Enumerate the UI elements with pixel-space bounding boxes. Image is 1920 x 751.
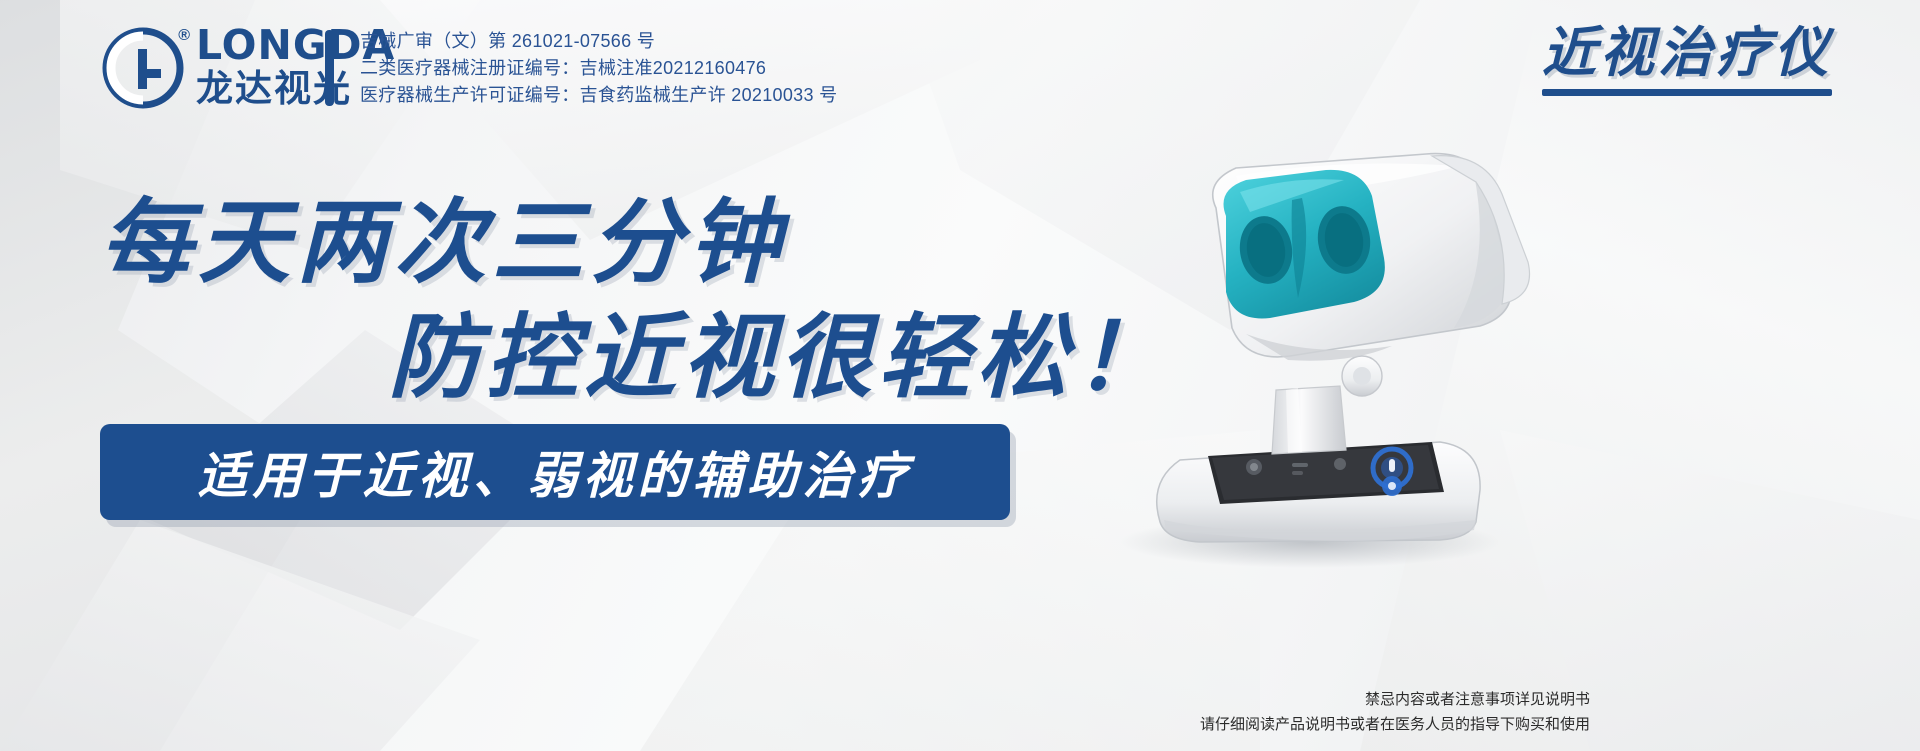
approval-info: 吉械广审（文）第 261021-07566 号 二类医疗器械注册证编号：吉械注准… [360, 28, 837, 109]
disclaimer-line-instructions: 请仔细阅读产品说明书或者在医务人员的指导下购买和使用 [1200, 712, 1590, 737]
headline-primary: 每天两次三分钟 [100, 168, 786, 301]
advertisement-banner: ® LONGDA 龙达视光 吉械广审（文）第 261021-07566 号 二类… [0, 0, 1920, 751]
myopia-treatment-device-illustration [1040, 90, 1600, 570]
header-divider [325, 30, 334, 106]
disclaimer-text: 禁忌内容或者注意事项详见说明书 请仔细阅读产品说明书或者在医务人员的指导下购买和… [1200, 687, 1590, 737]
product-title-block: 近视治疗仪 [1542, 24, 1832, 96]
indication-banner[interactable]: 适用于近视、弱视的辅助治疗 [100, 424, 1010, 520]
background-shard [0, 520, 480, 751]
approval-line-registration: 二类医疗器械注册证编号：吉械注准20212160476 [360, 55, 837, 82]
brand-logo: ® LONGDA 龙达视光 [100, 25, 395, 110]
indication-label: 适用于近视、弱视的辅助治疗 [198, 436, 913, 508]
product-title: 近视治疗仪 [1542, 24, 1832, 83]
disclaimer-line-contraindications: 禁忌内容或者注意事项详见说明书 [1200, 687, 1590, 712]
longda-eye-logo-icon: ® [100, 25, 186, 111]
approval-line-production-license: 医疗器械生产许可证编号：吉食药监械生产许 20210033 号 [360, 82, 837, 109]
registered-trademark-icon: ® [178, 27, 190, 45]
approval-line-ad: 吉械广审（文）第 261021-07566 号 [360, 28, 837, 55]
background-shard [0, 0, 340, 751]
